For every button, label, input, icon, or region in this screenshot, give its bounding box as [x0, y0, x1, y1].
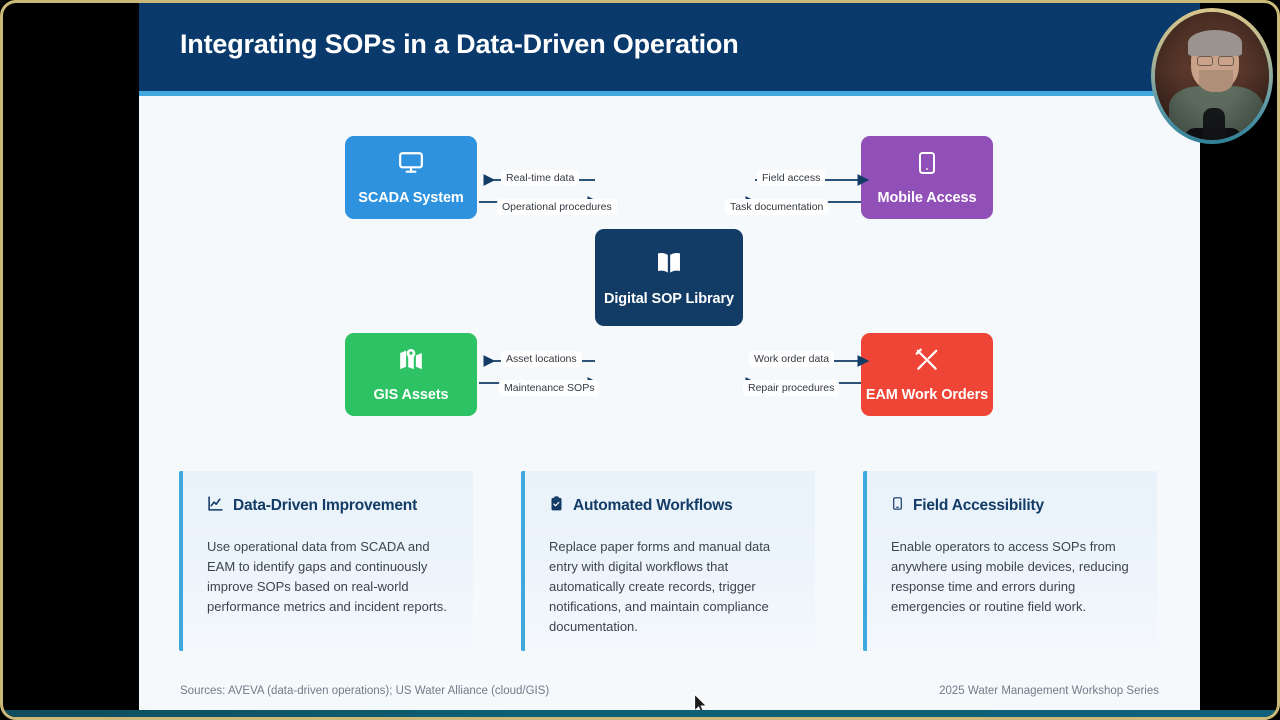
diagram-node-label: SCADA System [358, 190, 463, 206]
book-icon [653, 249, 685, 282]
card-header: Data-Driven Improvement [207, 495, 449, 517]
presentation-window: Integrating SOPs in a Data-Driven Operat… [0, 0, 1280, 720]
map-pin-icon [397, 347, 425, 378]
diagram-node-label: GIS Assets [373, 387, 448, 403]
clipboard-check-icon [549, 495, 564, 517]
diagram-node-digital-sop-library[interactable]: Digital SOP Library [595, 229, 743, 326]
feature-card-automated-workflows: Automated Workflows Replace paper forms … [521, 471, 815, 651]
connector-gis-library: Asset locations Maintenance SOPs [477, 355, 597, 391]
diagram-node-label: EAM Work Orders [866, 387, 988, 403]
connector-label: Repair procedures [743, 380, 839, 396]
connector-label: Work order data [749, 351, 834, 367]
card-body: Enable operators to access SOPs from any… [891, 537, 1133, 617]
webcam-video [1155, 12, 1269, 140]
webcam-vignette [1155, 12, 1269, 140]
tools-icon [913, 347, 941, 378]
card-header: Field Accessibility [891, 495, 1133, 517]
feature-cards: Data-Driven Improvement Use operational … [139, 471, 1200, 651]
tablet-icon [915, 150, 939, 181]
diagram-node-label: Digital SOP Library [604, 291, 734, 307]
chart-line-icon [207, 495, 224, 517]
presenter-webcam-bubble[interactable] [1151, 8, 1273, 144]
connector-label: Operational procedures [497, 199, 617, 215]
card-title: Data-Driven Improvement [233, 497, 417, 515]
card-body: Use operational data from SCADA and EAM … [207, 537, 449, 617]
page-title: Integrating SOPs in a Data-Driven Operat… [180, 29, 739, 60]
sop-integration-diagram: SCADA System Mobile Access [139, 96, 1200, 456]
connector-label: Field access [757, 170, 825, 186]
connector-scada-library: Real-time data Operational procedures [477, 174, 597, 210]
card-title: Automated Workflows [573, 497, 733, 515]
footer-sources: Sources: AVEVA (data-driven operations);… [180, 685, 549, 697]
device-frame-bottom-strip [3, 710, 1277, 717]
slide-canvas: Integrating SOPs in a Data-Driven Operat… [139, 3, 1200, 715]
connector-library-eam: Work order data Repair procedures [743, 355, 861, 391]
connector-label: Real-time data [501, 170, 579, 186]
connector-label: Asset locations [501, 351, 582, 367]
diagram-node-label: Mobile Access [878, 190, 977, 206]
card-title: Field Accessibility [913, 497, 1044, 515]
diagram-node-eam-work-orders[interactable]: EAM Work Orders [861, 333, 993, 416]
mobile-phone-icon [891, 495, 904, 517]
card-body: Replace paper forms and manual data entr… [549, 537, 791, 637]
connector-label: Maintenance SOPs [499, 380, 599, 396]
connector-label: Task documentation [725, 199, 828, 215]
footer-series: 2025 Water Management Workshop Series [939, 685, 1159, 697]
diagram-node-mobile-access[interactable]: Mobile Access [861, 136, 993, 219]
diagram-node-gis-assets[interactable]: GIS Assets [345, 333, 477, 416]
feature-card-data-driven-improvement: Data-Driven Improvement Use operational … [179, 471, 473, 651]
feature-card-field-accessibility: Field Accessibility Enable operators to … [863, 471, 1157, 651]
diagram-node-scada[interactable]: SCADA System [345, 136, 477, 219]
monitor-icon [397, 150, 425, 181]
connector-library-mobile: Field access Task documentation [743, 174, 861, 210]
card-header: Automated Workflows [549, 495, 791, 517]
